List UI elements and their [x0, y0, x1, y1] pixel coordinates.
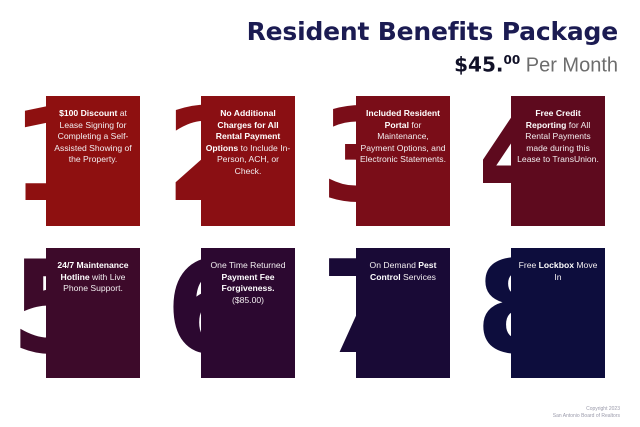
benefit-card-5: 524/7 Maintenance Hotline with Live Phon…	[18, 248, 140, 378]
page-title: Resident Benefits Package	[247, 18, 618, 46]
benefit-text-4: Free Credit Reporting for All Rental Pay…	[515, 108, 601, 166]
footer-copyright: Copyright 2023 San Antonio Board of Real…	[553, 406, 620, 419]
benefit-card-8: 8Free Lockbox Move In	[483, 248, 605, 378]
page-header: Resident Benefits Package $45.00 Per Mon…	[247, 18, 618, 78]
benefit-text-6: One Time Returned Payment Fee Forgivenes…	[205, 260, 291, 306]
benefit-card-7: 7On Demand Pest Control Services	[328, 248, 450, 378]
benefit-body-5: 24/7 Maintenance Hotline with Live Phone…	[46, 248, 140, 378]
benefit-body-2: No Additional Charges for All Rental Pay…	[201, 96, 295, 226]
price-cents: 00	[503, 53, 520, 67]
benefit-body-7: On Demand Pest Control Services	[356, 248, 450, 378]
benefit-body-4: Free Credit Reporting for All Rental Pay…	[511, 96, 605, 226]
benefit-body-8: Free Lockbox Move In	[511, 248, 605, 378]
price-subtitle: $45.00 Per Month	[247, 49, 618, 78]
benefit-card-6: 6One Time Returned Payment Fee Forgivene…	[173, 248, 295, 378]
benefit-text-1: $100 Discount at Lease Signing for Compl…	[50, 108, 136, 166]
benefit-card-1: 1$100 Discount at Lease Signing for Comp…	[18, 96, 140, 226]
benefit-text-8: Free Lockbox Move In	[515, 260, 601, 283]
benefit-text-5: 24/7 Maintenance Hotline with Live Phone…	[50, 260, 136, 295]
benefit-text-2: No Additional Charges for All Rental Pay…	[205, 108, 291, 178]
benefit-body-6: One Time Returned Payment Fee Forgivenes…	[201, 248, 295, 378]
benefit-card-3: 3Included Resident Portal for Maintenanc…	[328, 96, 450, 226]
benefit-text-7: On Demand Pest Control Services	[360, 260, 446, 283]
benefit-body-1: $100 Discount at Lease Signing for Compl…	[46, 96, 140, 226]
price-amount: $45.	[454, 53, 503, 77]
benefit-text-3: Included Resident Portal for Maintenance…	[360, 108, 446, 166]
copyright-line-2: San Antonio Board of Realtors	[553, 413, 620, 420]
price-period: Per Month	[520, 55, 618, 77]
benefit-card-4: 4Free Credit Reporting for All Rental Pa…	[483, 96, 605, 226]
benefit-card-2: 2No Additional Charges for All Rental Pa…	[173, 96, 295, 226]
benefit-body-3: Included Resident Portal for Maintenance…	[356, 96, 450, 226]
benefits-grid: 1$100 Discount at Lease Signing for Comp…	[0, 96, 640, 386]
